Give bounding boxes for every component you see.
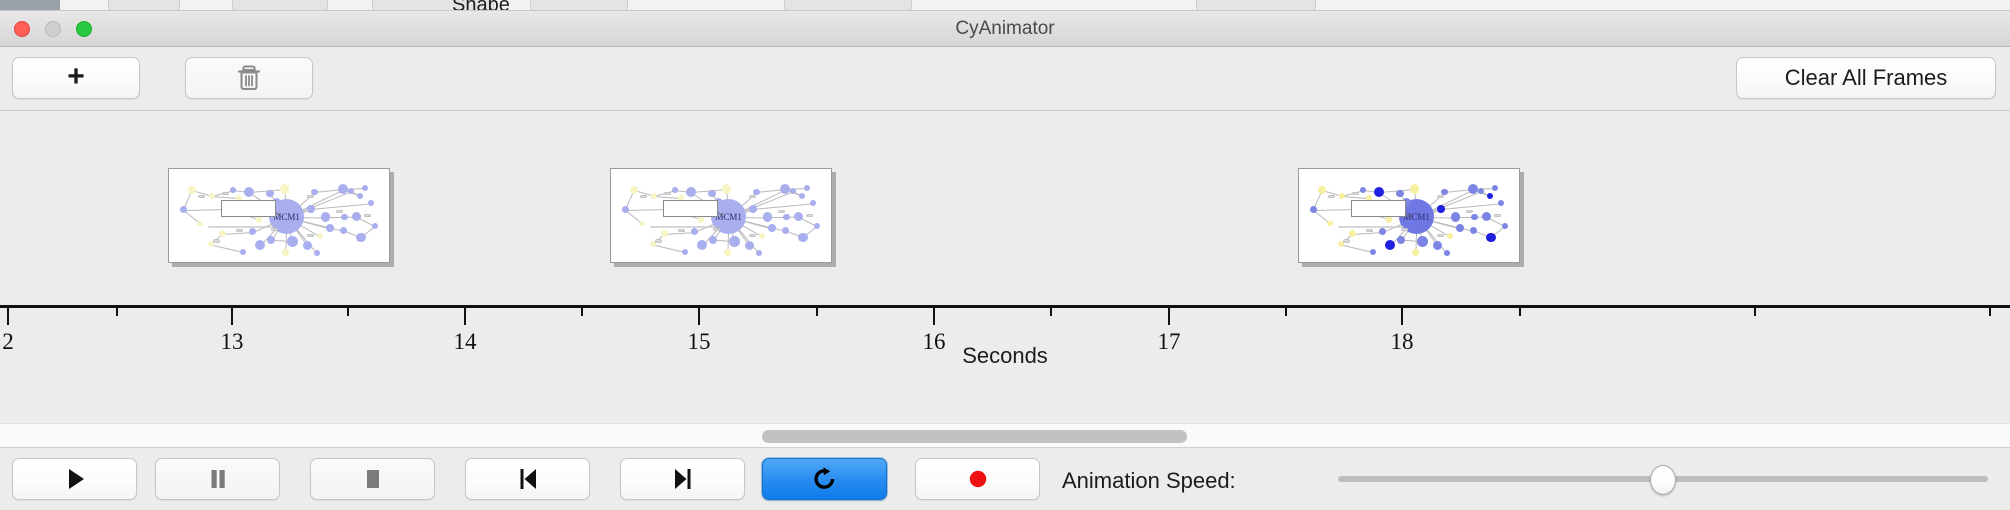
network-node [798, 233, 807, 242]
play-button[interactable] [12, 458, 137, 500]
skip-back-icon [513, 464, 543, 494]
network-node [1471, 214, 1477, 220]
network-node [1412, 249, 1418, 255]
bg-chip [0, 0, 60, 11]
playback-controls: Animation Speed: [0, 449, 2010, 510]
bg-chip [530, 0, 628, 11]
play-icon [60, 464, 90, 494]
network-node [282, 249, 288, 255]
network-node [783, 214, 789, 220]
network-node [244, 187, 254, 197]
loop-button[interactable] [762, 458, 887, 500]
network-node [280, 184, 290, 194]
network-node [341, 214, 347, 220]
network-node-label [1352, 192, 1359, 195]
network-node [230, 187, 236, 193]
network-node [1447, 233, 1454, 240]
frame-thumbnail: MCM1 [169, 169, 389, 262]
record-button[interactable] [915, 458, 1040, 500]
axis-tick-minor [116, 305, 118, 316]
network-node-label [307, 234, 314, 237]
network-node [1502, 223, 1508, 229]
network-node [1339, 193, 1345, 199]
bg-chip [108, 0, 180, 11]
network-edge [212, 196, 239, 199]
animation-speed-slider[interactable] [1338, 458, 1988, 500]
network-node-label [271, 228, 278, 231]
network-node [1327, 221, 1332, 226]
network-node [745, 241, 754, 250]
network-node-label [307, 195, 314, 198]
window-title: CyAnimator [0, 11, 2010, 47]
network-node [709, 236, 717, 244]
axis-tick-minor [1754, 305, 1756, 316]
bg-chip [1196, 0, 1316, 11]
network-node [256, 216, 262, 222]
network-node [303, 241, 312, 250]
network-edge [222, 232, 252, 235]
network-node-label [664, 192, 671, 195]
network-node [1397, 236, 1405, 244]
trash-icon [236, 63, 262, 93]
pause-icon [203, 464, 233, 494]
axis-tick-minor [816, 305, 818, 316]
axis-title: Seconds [0, 343, 2010, 369]
network-node-label [806, 214, 813, 217]
network-node [1470, 227, 1477, 234]
network-node-label [1401, 228, 1408, 231]
network-node [697, 240, 707, 250]
axis-tick-minor [1519, 305, 1521, 316]
skip-backward-button[interactable] [465, 458, 590, 500]
network-node-label [1466, 210, 1473, 213]
network-node [1451, 212, 1460, 221]
network-callout [663, 200, 717, 217]
network-node [1318, 186, 1326, 194]
network-node [372, 223, 378, 229]
animation-speed-label: Animation Speed: [1062, 468, 1236, 494]
axis-tick-minor [347, 305, 349, 316]
network-node [749, 205, 757, 213]
axis-tick-minor [1050, 305, 1052, 316]
network-node [188, 186, 196, 194]
stop-icon [358, 464, 388, 494]
network-node-label [1366, 229, 1373, 232]
network-node-label [678, 229, 685, 232]
axis-tick-major [231, 305, 233, 325]
stop-button[interactable] [310, 458, 435, 500]
network-node-label [236, 229, 243, 232]
network-callout [1351, 200, 1405, 217]
network-node [1310, 206, 1317, 213]
network-node [691, 228, 698, 235]
network-node [356, 233, 365, 242]
network-node [1456, 224, 1464, 232]
skip-forward-button[interactable] [620, 458, 745, 500]
network-node [249, 228, 256, 235]
network-node [768, 224, 776, 232]
axis-tick-major [933, 305, 935, 325]
network-edge [1352, 232, 1382, 235]
network-node [630, 186, 638, 194]
frame-thumbnail: MCM1 [611, 169, 831, 262]
network-node [804, 185, 810, 191]
horizontal-scrollbar[interactable] [0, 423, 2010, 448]
background-window-label: Shape [452, 0, 510, 11]
axis-tick-major [1401, 305, 1403, 325]
network-node-label [713, 228, 720, 231]
network-edge [211, 244, 243, 253]
network-node [622, 206, 629, 213]
network-edge [653, 244, 685, 253]
network-node [240, 249, 246, 255]
clear-all-frames-button[interactable]: Clear All Frames [1736, 57, 1996, 99]
network-node [314, 250, 320, 256]
network-node [1410, 184, 1420, 194]
network-node [317, 233, 324, 240]
network-node [180, 206, 187, 213]
network-node [782, 227, 789, 234]
network-node [307, 205, 315, 213]
network-node [340, 227, 347, 234]
network-node [1433, 241, 1442, 250]
network-node [326, 224, 334, 232]
network-node [799, 193, 805, 199]
network-node [197, 221, 202, 226]
network-node [790, 188, 796, 194]
axis-tick-major [698, 305, 700, 325]
network-node [814, 223, 820, 229]
network-node-label [222, 192, 229, 195]
network-node [651, 193, 657, 199]
network-node-label [640, 195, 647, 198]
loop-icon [810, 464, 840, 494]
network-node-label [749, 195, 756, 198]
network-node [729, 236, 740, 247]
axis-tick-major [464, 305, 466, 325]
axis-tick-minor [1989, 305, 1991, 316]
network-node [255, 240, 265, 250]
network-node [810, 200, 816, 206]
network-node-label [198, 195, 205, 198]
network-callout [221, 200, 275, 217]
timeline-frame[interactable]: MCM1 [610, 168, 832, 263]
network-node [1370, 249, 1376, 255]
network-node-label [749, 234, 756, 237]
add-frame-button[interactable]: + [12, 57, 140, 99]
network-node [219, 230, 226, 237]
network-edge [664, 232, 694, 235]
network-node [1437, 205, 1445, 213]
clear-all-frames-label: Clear All Frames [1785, 65, 1948, 91]
network-node [686, 187, 696, 197]
timeline-axis [0, 305, 2010, 308]
network-node [1444, 250, 1450, 256]
timeline-panel[interactable]: MCM1MCM1MCM1 2131415161718 Seconds [0, 111, 2010, 423]
axis-tick-minor [581, 305, 583, 316]
network-node [287, 236, 298, 247]
network-node-label [1343, 239, 1350, 242]
plus-icon: + [67, 62, 85, 92]
network-node-label [336, 210, 343, 213]
network-node [321, 212, 330, 221]
network-node [1374, 187, 1384, 197]
network-node [1379, 228, 1386, 235]
record-icon [963, 464, 993, 494]
network-node [639, 221, 644, 226]
title-bar: CyAnimator [0, 11, 2010, 47]
network-node [756, 250, 762, 256]
network-node-label [1437, 234, 1444, 237]
network-node [1385, 240, 1395, 250]
network-node [362, 185, 368, 191]
cyanimator-window: Shape CyAnimator + Clear All Frames [0, 0, 2010, 510]
background-window-strip: Shape [0, 0, 2010, 11]
network-node [1349, 230, 1356, 237]
network-node [724, 249, 730, 255]
network-node [357, 193, 363, 199]
network-node [1487, 193, 1493, 199]
bg-chip [232, 0, 328, 11]
network-node-label [213, 239, 220, 242]
network-node [1417, 236, 1428, 247]
network-node [672, 187, 678, 193]
network-node [698, 216, 704, 222]
network-node [1396, 190, 1403, 197]
delete-frame-button[interactable] [185, 57, 313, 99]
network-node [267, 236, 275, 244]
network-node [722, 184, 732, 194]
axis-tick-minor [1285, 305, 1287, 316]
timeline-frame[interactable]: MCM1 [1298, 168, 1520, 263]
network-node [1386, 216, 1392, 222]
slider-thumb[interactable] [1650, 465, 1676, 495]
network-node-label [1437, 195, 1444, 198]
skip-forward-icon [668, 464, 698, 494]
network-node [682, 249, 688, 255]
network-node-label [1494, 214, 1501, 217]
network-node [708, 190, 715, 197]
timeline-frame[interactable]: MCM1 [168, 168, 390, 263]
network-edge [1342, 196, 1369, 199]
network-node [266, 190, 273, 197]
network-node [763, 212, 772, 221]
network-node-label [778, 210, 785, 213]
network-node [1486, 233, 1495, 242]
scrollbar-thumb[interactable] [762, 430, 1187, 443]
network-node [1492, 185, 1498, 191]
network-edge [1341, 244, 1373, 253]
network-node [759, 233, 766, 240]
network-node [1478, 188, 1484, 194]
network-node [661, 230, 668, 237]
frame-thumbnail: MCM1 [1299, 169, 1519, 262]
network-node-label [655, 239, 662, 242]
network-node-label [364, 214, 371, 217]
network-node [348, 188, 354, 194]
axis-tick-major [1168, 305, 1170, 325]
axis-tick-major [7, 305, 9, 325]
network-node-label [1328, 195, 1335, 198]
network-node [1498, 200, 1504, 206]
network-node [368, 200, 374, 206]
network-node [1360, 187, 1366, 193]
bg-chip [784, 0, 912, 11]
network-edge [654, 196, 681, 199]
pause-button[interactable] [155, 458, 280, 500]
network-node [209, 193, 215, 199]
toolbar: + Clear All Frames [0, 47, 2010, 111]
